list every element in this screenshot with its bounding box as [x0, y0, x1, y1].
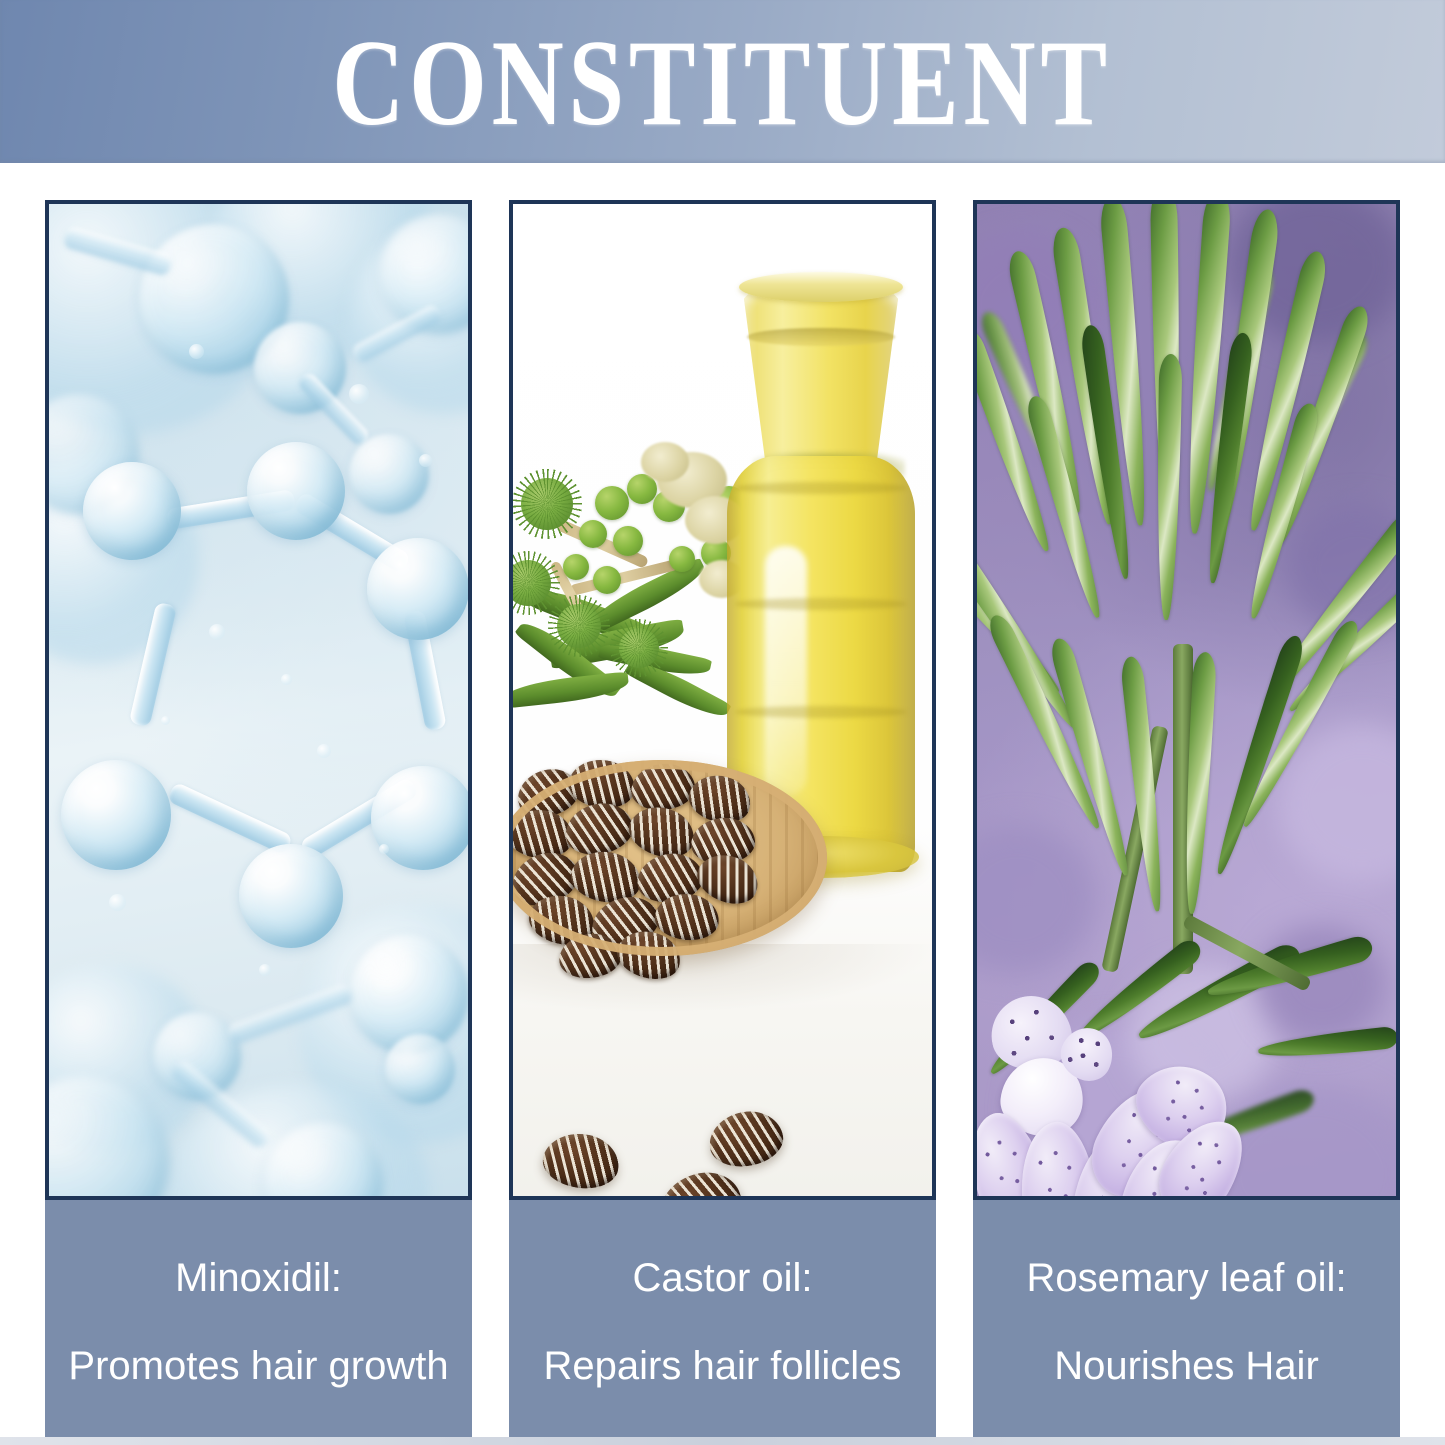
ingredient-title: Castor oil: — [632, 1256, 812, 1300]
ingredient-column-rosemary: Rosemary leaf oil: Nourishes Hair — [973, 200, 1400, 1437]
rosemary-photo — [977, 204, 1396, 1196]
rosemary-photo-frame — [973, 200, 1400, 1200]
caption-panel-minoxidil: Minoxidil: Promotes hair growth — [45, 1200, 472, 1437]
castor-oil-photo — [513, 204, 932, 1196]
ingredient-column-castor-oil: Castor oil: Repairs hair follicles — [509, 200, 936, 1437]
ingredient-column-minoxidil: Minoxidil: Promotes hair growth — [45, 200, 472, 1437]
header-banner: CONSTITUENT — [0, 0, 1445, 163]
page-title: CONSTITUENT — [333, 22, 1113, 145]
castor-photo-frame — [509, 200, 936, 1200]
castor-plant-cluster — [509, 442, 763, 712]
ingredient-title: Rosemary leaf oil: — [1026, 1256, 1346, 1300]
molecule-structure-photo — [49, 204, 468, 1196]
ingredient-description: Repairs hair follicles — [544, 1344, 902, 1388]
molecule-photo-frame — [45, 200, 472, 1200]
ingredient-title: Minoxidil: — [175, 1256, 342, 1300]
ingredient-description: Nourishes Hair — [1054, 1344, 1319, 1388]
ingredient-description: Promotes hair growth — [68, 1344, 448, 1388]
caption-panel-rosemary: Rosemary leaf oil: Nourishes Hair — [973, 1200, 1400, 1437]
caption-panel-castor-oil: Castor oil: Repairs hair follicles — [509, 1200, 936, 1437]
bottom-edge-strip — [0, 1437, 1445, 1445]
ingredient-columns: Minoxidil: Promotes hair growth — [45, 200, 1400, 1437]
